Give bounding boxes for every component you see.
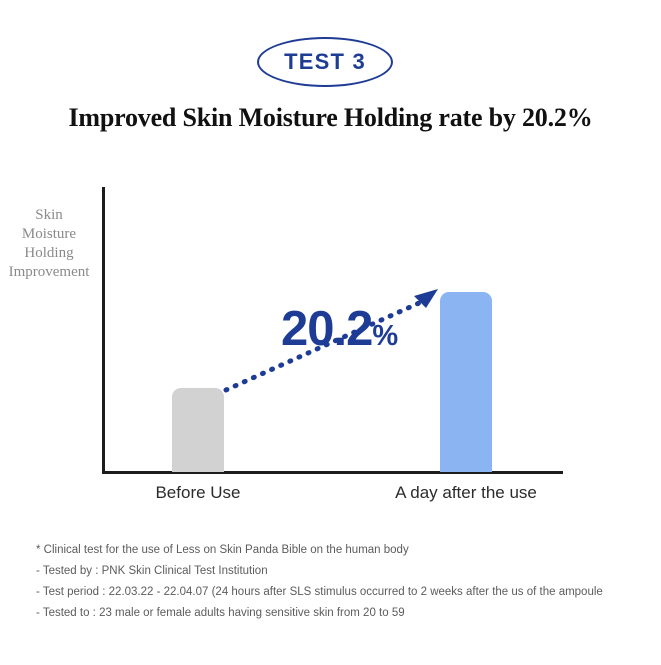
growth-arrow-head-icon <box>414 289 438 308</box>
footnote-line-3: - Test period : 22.03.22 - 22.04.07 (24 … <box>36 582 656 603</box>
bar-before-use <box>172 388 224 472</box>
y-axis-label-line-1: Skin <box>0 206 100 225</box>
footnote-line-2: - Tested by : PNK Skin Clinical Test Ins… <box>36 561 656 582</box>
y-axis-line <box>102 187 105 474</box>
improvement-callout-number: 20.2 <box>281 302 372 356</box>
x-axis-tick-a-day-after-the-use: A day after the use <box>366 483 566 503</box>
footnote-line-4: - Tested to : 23 male or female adults h… <box>36 603 656 624</box>
improvement-callout-percent: % <box>372 320 397 352</box>
x-axis-tick-before-use: Before Use <box>98 483 298 503</box>
improvement-callout: 20.2% <box>281 305 398 354</box>
y-axis-label-line-2: Moisture <box>0 225 100 244</box>
y-axis-label: Skin Moisture Holding Improvement <box>0 206 100 282</box>
y-axis-label-line-3: Holding <box>0 244 100 263</box>
footnotes: * Clinical test for the use of Less on S… <box>36 540 656 624</box>
bar-a-day-after-the-use <box>440 292 492 472</box>
footnote-line-1: * Clinical test for the use of Less on S… <box>36 540 656 561</box>
y-axis-label-line-4: Improvement <box>0 263 100 282</box>
